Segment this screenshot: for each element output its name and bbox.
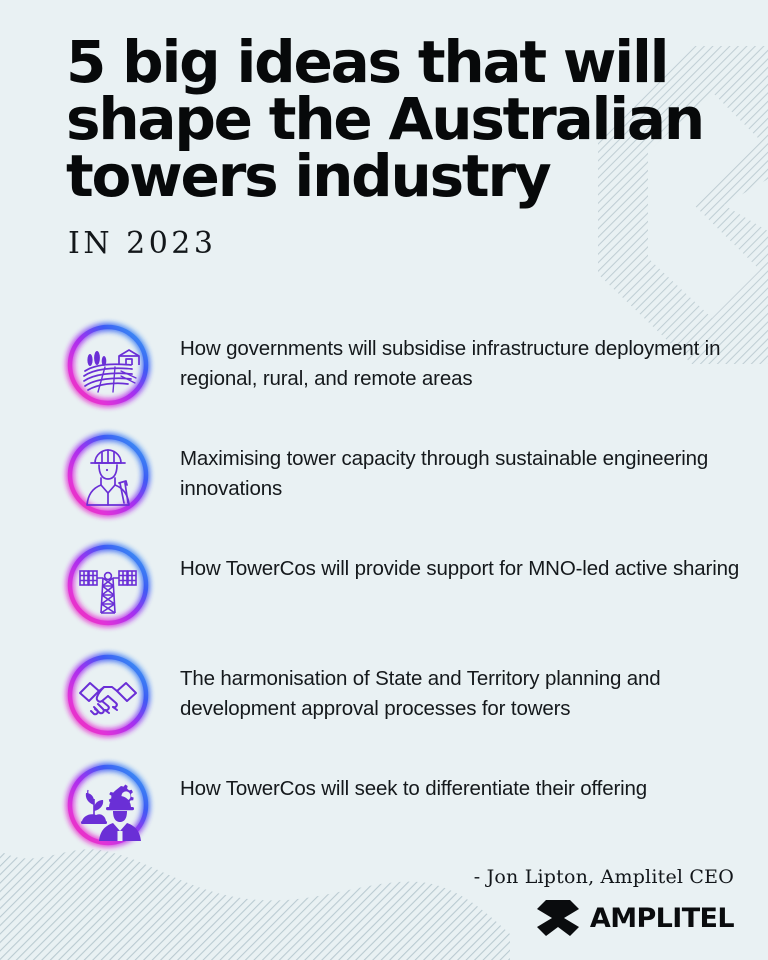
page-subtitle: IN 2023 [68,226,706,261]
list-item-label: How TowerCos will seek to differentiate … [180,774,758,804]
list-item: How governments will subsidise infrastru… [58,312,758,422]
attribution-text: - Jon Lipton, Amplitel CEO [474,866,734,888]
list-item-label: Maximising tower capacity through sustai… [180,444,758,504]
telecom-tower-icon [58,535,158,635]
list-item-label: How TowerCos will provide support for MN… [180,554,758,584]
amplitel-wordmark: AMPLITEL [590,905,734,932]
poster-header: 5 big ideas that will shape the Australi… [66,34,706,261]
infographic-poster: 5 big ideas that will shape the Australi… [0,0,768,960]
sustainable-worker-gear-plant-icon [58,755,158,855]
ideas-list: How governments will subsidise infrastru… [58,312,758,862]
list-item: How TowerCos will provide support for MN… [58,532,758,642]
engineer-hardhat-icon [58,425,158,525]
page-title: 5 big ideas that will shape the Australi… [66,34,706,204]
list-item-label: How governments will subsidise infrastru… [180,334,758,394]
amplitel-logo: AMPLITEL [537,898,734,938]
rural-farmland-icon [58,315,158,415]
amplitel-chevron-mark-icon [537,898,579,938]
list-item: The harmonisation of State and Territory… [58,642,758,752]
list-item: Maximising tower capacity through sustai… [58,422,758,532]
handshake-icon [58,645,158,745]
list-item-label: The harmonisation of State and Territory… [180,664,758,724]
list-item: How TowerCos will seek to differentiate … [58,752,758,862]
